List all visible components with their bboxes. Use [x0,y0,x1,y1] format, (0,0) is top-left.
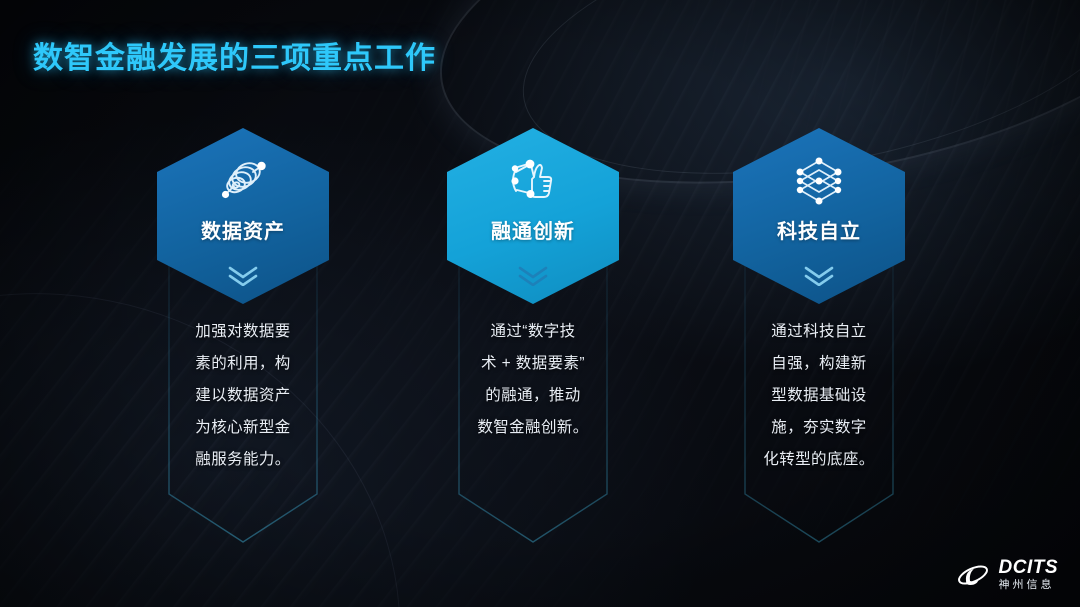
text-line: 为核心新型金 [133,412,353,444]
card-label: 科技自立 [777,215,861,244]
card-label: 融通创新 [491,215,575,244]
text-line: 加强对数据要 [133,316,353,348]
text-line: 建以数据资产 [133,380,353,412]
thumbs-up-network-icon [504,155,562,207]
logo-wordmark: DCITS 神州信息 [999,558,1059,591]
text-line: 型数据基础设 [709,380,929,412]
card-body-text: 加强对数据要 素的利用，构 建以数据资产 为核心新型金 融服务能力。 [133,316,353,476]
text-line: 融服务能力。 [133,444,353,476]
double-chevron-down-icon [226,264,260,286]
hexagon-shape: 融通创新 [447,128,619,304]
hexagon-badge[interactable]: 科技自立 [733,128,905,304]
card-body-text: 通过科技自立 自强，构建新 型数据基础设 施，夯实数字 化转型的底座。 [709,316,929,476]
text-line: 数智金融创新。 [423,412,643,444]
hexagon-badge[interactable]: 数据资产 [157,128,329,304]
text-line: 自强，构建新 [709,348,929,380]
company-logo: DCITS 神州信息 [956,558,1059,591]
page-title: 数智金融发展的三项重点工作 [33,33,436,77]
layered-network-stack-icon [790,155,848,207]
text-line: 的融通，推动 [423,380,643,412]
cards-container: 数据资产 加强对数据要 素的利用，构 建以数据资产 为核心新型金 [0,128,1080,558]
text-line: 通过科技自立 [709,316,929,348]
card-body-text: 通过“数字技 术 + 数据要素” 的融通，推动 数智金融创新。 [423,316,643,444]
presentation-slide: 数智金融发展的三项重点工作 [0,0,1080,607]
hexagon-shape: 科技自立 [733,128,905,304]
logo-name-cn: 神州信息 [999,580,1059,591]
text-line: 通过“数字技 [423,316,643,348]
double-chevron-down-icon [802,264,836,286]
card-label: 数据资产 [201,215,285,244]
double-chevron-down-icon [516,264,550,286]
text-line: 施，夯实数字 [709,412,929,444]
text-line: 化转型的底座。 [709,444,929,476]
dcits-swoosh-icon [956,560,990,590]
logo-name-en: DCITS [999,558,1059,577]
text-line: 术 + 数据要素” [423,348,643,380]
hexagon-shape: 数据资产 [157,128,329,304]
database-coil-network-icon [214,155,272,207]
hexagon-badge[interactable]: 融通创新 [447,128,619,304]
text-line: 素的利用，构 [133,348,353,380]
